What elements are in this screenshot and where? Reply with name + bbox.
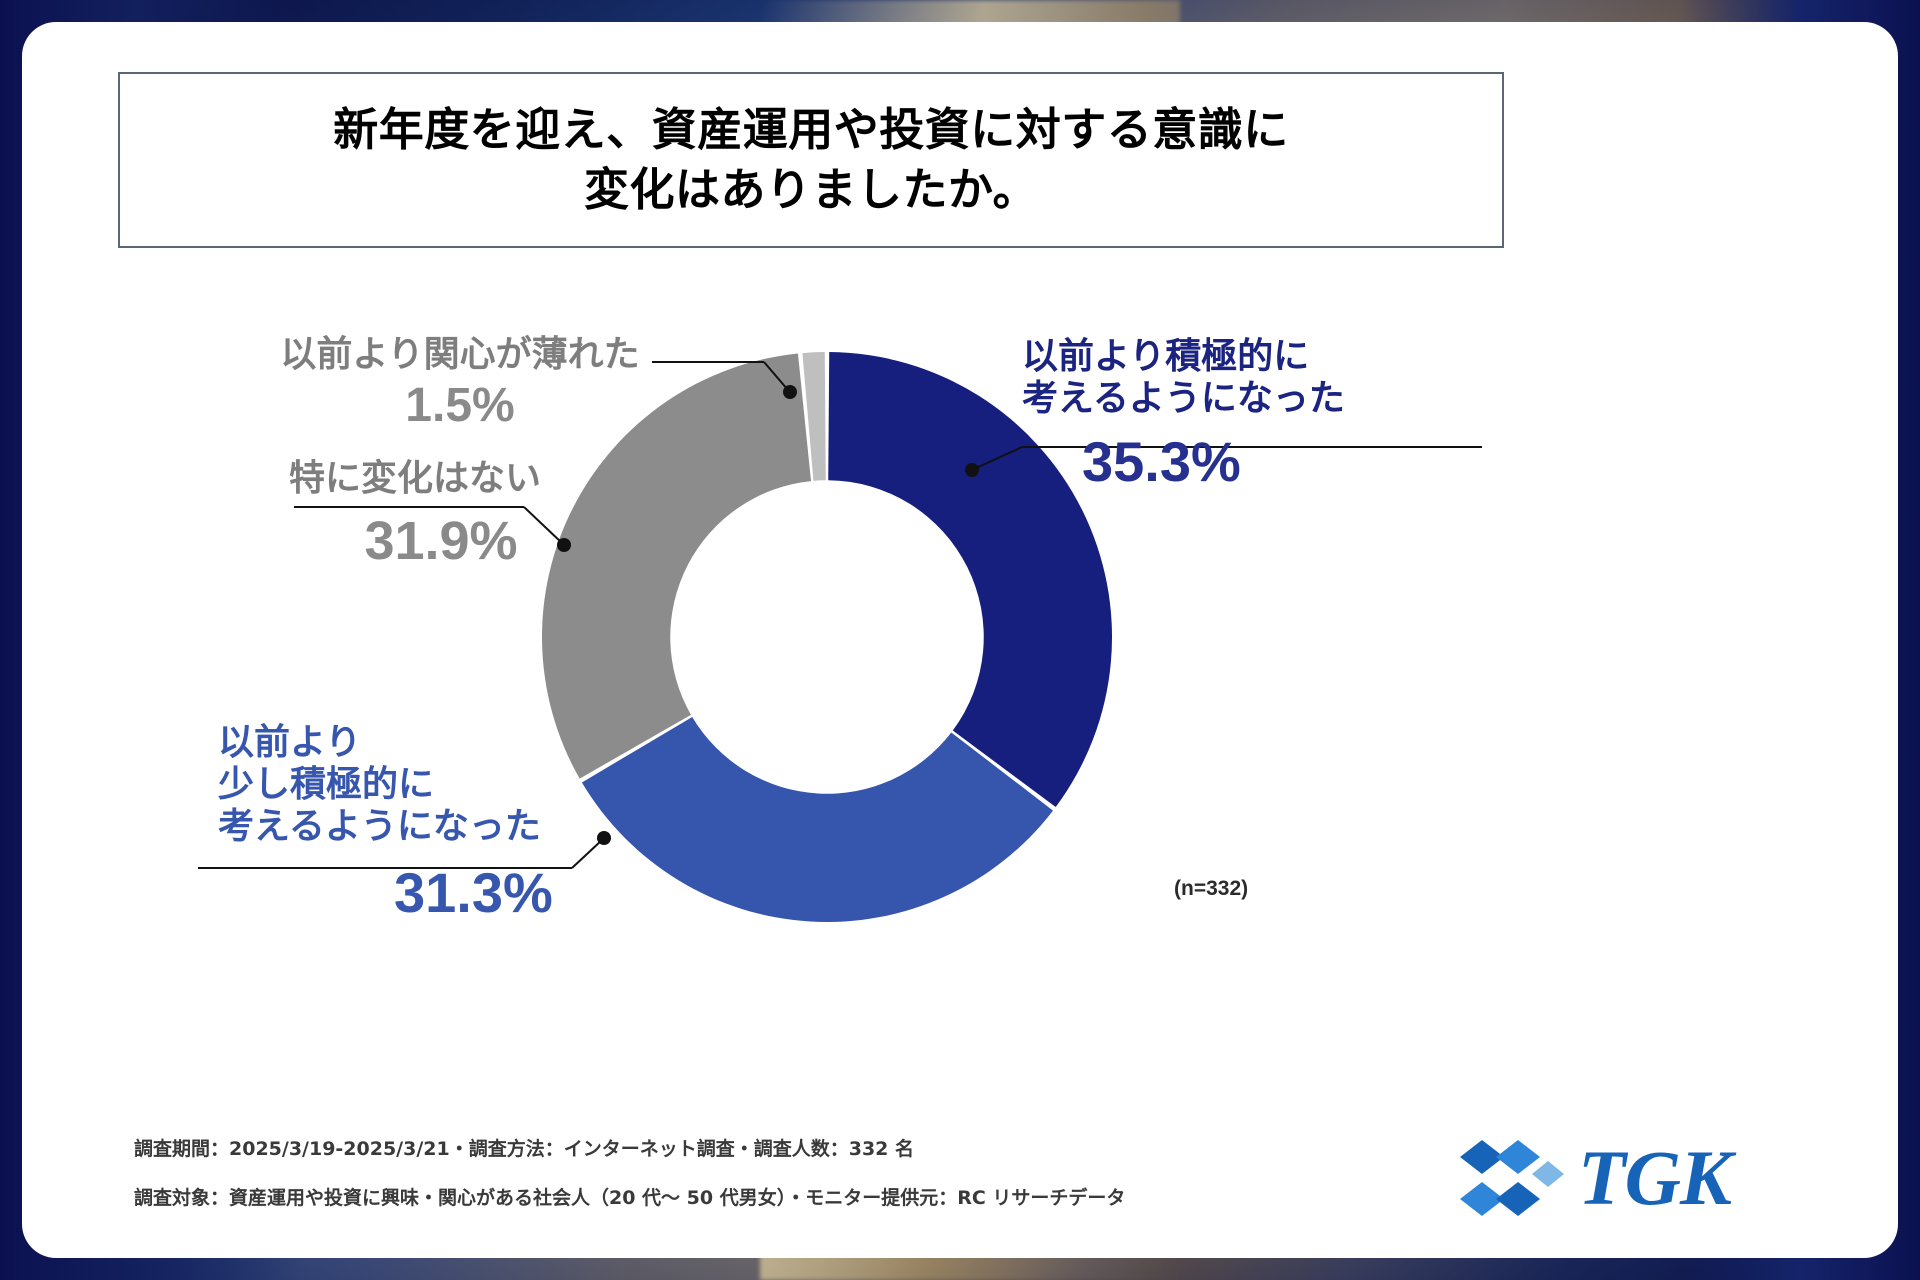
survey-footnote-line1: 調査期間：2025/3/19-2025/3/21・調査方法：インターネット調査・…: [134, 1140, 1234, 1159]
slice-label-gray-nochange: 特に変化はない 31.9%: [250, 458, 580, 568]
survey-footnote: 調査期間：2025/3/19-2025/3/21・調査方法：インターネット調査・…: [134, 1140, 1234, 1208]
slice-label-gray-nochange-text: 特に変化はない: [250, 458, 580, 500]
page-title: 新年度を迎え、資産運用や投資に対する意識に 変化はありましたか。: [333, 100, 1289, 221]
slice-label-navy-percent: 35.3%: [1082, 434, 1502, 490]
sample-size-note: (n=332): [1174, 877, 1248, 901]
slice-label-navy: 以前より積極的に 考えるようになった 35.3%: [1022, 336, 1502, 490]
slice-label-blue: 以前より 少し積極的に 考えるようになった 31.3%: [218, 722, 648, 921]
title-box: 新年度を迎え、資産運用や投資に対する意識に 変化はありましたか。: [118, 72, 1504, 248]
brand-logo: TGK: [1452, 1130, 1792, 1226]
survey-footnote-line2: 調査対象：資産運用や投資に興味・関心がある社会人（20 代〜 50 代男女）・モ…: [134, 1189, 1234, 1208]
slice-label-gray-declined: 以前より関心が薄れた 1.5%: [250, 334, 670, 430]
infographic-card: 新年度を迎え、資産運用や投資に対する意識に 変化はありましたか。 以前より積極的…: [22, 22, 1898, 1258]
slice-label-navy-text: 以前より積極的に 考えるようになった: [1022, 336, 1502, 420]
slice-label-blue-text: 以前より 少し積極的に 考えるようになった: [218, 722, 648, 847]
brand-logo-text: TGK: [1578, 1130, 1731, 1226]
slice-label-gray-declined-percent: 1.5%: [250, 382, 670, 430]
slice-label-gray-declined-text: 以前より関心が薄れた: [250, 334, 670, 376]
slice-label-blue-percent: 31.3%: [394, 865, 648, 921]
slice-label-gray-nochange-percent: 31.9%: [302, 514, 580, 568]
tgk-diamond-mark-icon: [1452, 1136, 1572, 1222]
